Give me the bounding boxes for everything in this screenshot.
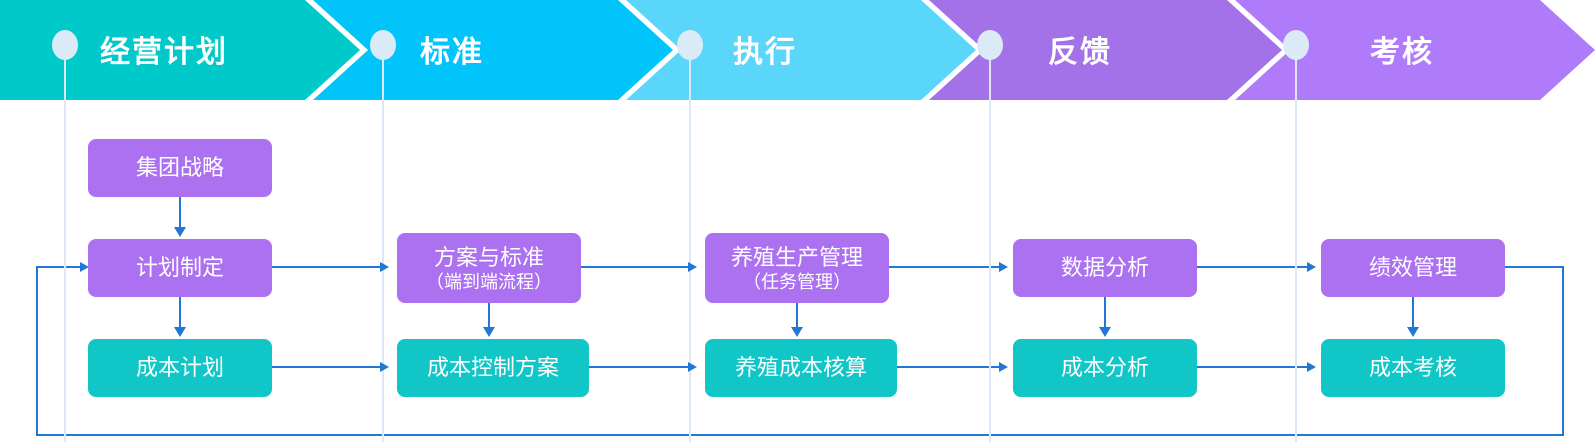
- node-breeding-cost-accounting[interactable]: 养殖成本核算: [705, 339, 897, 397]
- edge-plan-to-costplan: [179, 297, 181, 329]
- phase-label-phase1: 经营计划: [100, 27, 228, 71]
- node-performance-management-label: 绩效管理: [1369, 255, 1457, 281]
- edge-perf-to-costassess-arrow-icon: [1407, 327, 1419, 337]
- edge-strategy-to-plan: [179, 197, 181, 229]
- edge-breedprod-to-dataanalysis-arrow-icon: [999, 262, 1008, 272]
- node-data-analysis[interactable]: 数据分析: [1013, 239, 1197, 297]
- feedback-loop-top-right-segment: [1504, 266, 1564, 268]
- phase-pin-dot-icon-4: [977, 30, 1003, 60]
- node-group-strategy-label: 集团战略: [136, 155, 224, 181]
- node-cost-control-scheme[interactable]: 成本控制方案: [397, 339, 589, 397]
- node-cost-analysis[interactable]: 成本分析: [1013, 339, 1197, 397]
- edge-scheme-to-costcontrol-arrow-icon: [483, 327, 495, 337]
- phase-band: 经营计划 标准 执行 反馈 考核: [0, 0, 1595, 100]
- edge-perf-to-costassess: [1412, 297, 1414, 329]
- phase-label-phase3: 执行: [733, 27, 797, 71]
- node-cost-plan[interactable]: 成本计划: [88, 339, 272, 397]
- node-scheme-standard-sublabel: （端到端流程）: [426, 271, 552, 293]
- edge-dataanalysis-to-perf-arrow-icon: [1307, 262, 1316, 272]
- flowchart-canvas: 经营计划 标准 执行 反馈 考核: [0, 0, 1595, 442]
- phase-divider-4: [989, 45, 991, 442]
- edge-costplan-to-costcontrol: [272, 366, 380, 368]
- edge-breedprod-to-breedcost-arrow-icon: [791, 327, 803, 337]
- node-data-analysis-label: 数据分析: [1061, 255, 1149, 281]
- node-breeding-production[interactable]: 养殖生产管理 （任务管理）: [705, 233, 889, 303]
- edge-costcontrol-to-breedcost: [589, 366, 688, 368]
- edge-costcontrol-to-breedcost-arrow-icon: [688, 362, 697, 372]
- node-scheme-standard-label: 方案与标准: [434, 244, 544, 271]
- node-cost-assessment-label: 成本考核: [1369, 355, 1457, 381]
- edge-breedcost-to-costanalysis: [897, 366, 999, 368]
- node-plan-making[interactable]: 计划制定: [88, 239, 272, 297]
- phase-label-phase4: 反馈: [1048, 27, 1112, 71]
- node-breeding-production-sublabel: （任务管理）: [743, 271, 851, 293]
- edge-scheme-to-breedprod: [581, 266, 688, 268]
- phase-divider-5: [1295, 45, 1297, 442]
- phase-label-phase2: 标准: [420, 27, 484, 71]
- node-cost-plan-label: 成本计划: [136, 355, 224, 381]
- node-group-strategy[interactable]: 集团战略: [88, 139, 272, 197]
- phase-label-phase5: 考核: [1370, 27, 1434, 71]
- feedback-loop-into-plan-segment: [36, 266, 82, 268]
- edge-breedcost-to-costanalysis-arrow-icon: [999, 362, 1008, 372]
- feedback-loop-right-segment: [1562, 266, 1564, 436]
- edge-scheme-to-breedprod-arrow-icon: [688, 262, 697, 272]
- edge-dataanalysis-to-costanalysis: [1104, 297, 1106, 329]
- edge-plan-to-scheme-arrow-icon: [380, 262, 389, 272]
- edge-costanalysis-to-costassess-arrow-icon: [1307, 362, 1316, 372]
- node-breeding-cost-accounting-label: 养殖成本核算: [735, 355, 867, 381]
- phase-divider-2: [382, 45, 384, 442]
- edge-dataanalysis-to-costanalysis-arrow-icon: [1099, 327, 1111, 337]
- phase-pin-dot-icon-5: [1283, 30, 1309, 60]
- phase-divider-3: [689, 45, 691, 442]
- edge-costplan-to-costcontrol-arrow-icon: [380, 362, 389, 372]
- edge-breedprod-to-dataanalysis: [889, 266, 999, 268]
- edge-costanalysis-to-costassess: [1197, 366, 1307, 368]
- node-cost-control-scheme-label: 成本控制方案: [427, 355, 559, 381]
- edge-plan-to-costplan-arrow-icon: [174, 327, 186, 337]
- node-plan-making-label: 计划制定: [136, 255, 224, 281]
- phase-pin-dot-icon-1: [52, 30, 78, 60]
- phase-chevron-shapes: [0, 0, 1595, 100]
- chevron-shape-phase2: [313, 0, 673, 100]
- phase-pin-dot-icon-3: [677, 30, 703, 60]
- node-breeding-production-label: 养殖生产管理: [731, 244, 863, 271]
- node-cost-assessment[interactable]: 成本考核: [1321, 339, 1505, 397]
- feedback-loop-left-segment: [36, 266, 38, 436]
- node-performance-management[interactable]: 绩效管理: [1321, 239, 1505, 297]
- node-scheme-standard[interactable]: 方案与标准 （端到端流程）: [397, 233, 581, 303]
- edge-plan-to-scheme: [272, 266, 380, 268]
- node-cost-analysis-label: 成本分析: [1061, 355, 1149, 381]
- edge-dataanalysis-to-perf: [1197, 266, 1307, 268]
- phase-divider-1: [64, 45, 66, 442]
- feedback-loop-bottom-segment: [36, 434, 1564, 436]
- phase-pin-dot-icon-2: [370, 30, 396, 60]
- edge-strategy-to-plan-arrow-icon: [174, 227, 186, 237]
